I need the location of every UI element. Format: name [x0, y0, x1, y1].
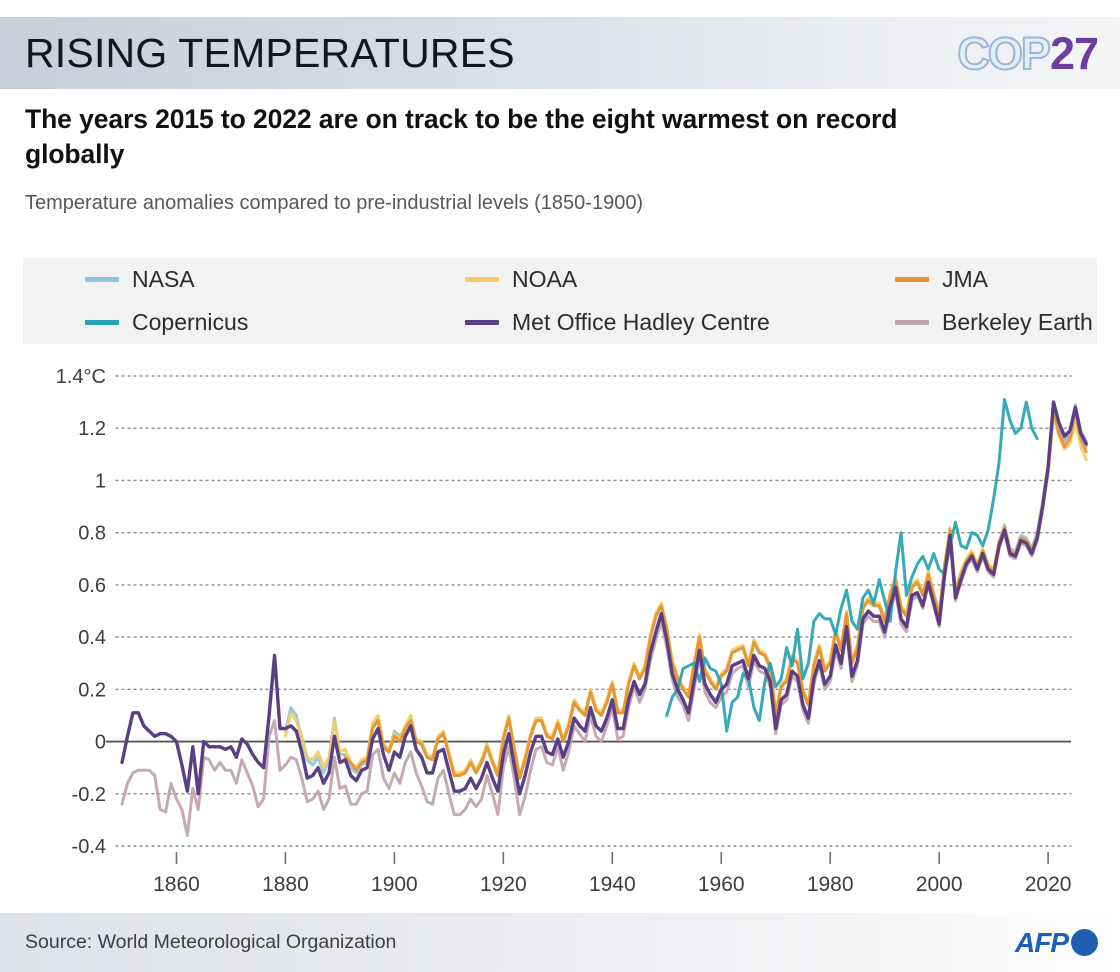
y-axis-tick-label: -0.2: [72, 784, 106, 806]
legend-swatch-icon: [465, 277, 499, 282]
y-axis-tick-label: 0.6: [78, 575, 106, 597]
afp-wordmark: AFP: [1015, 927, 1068, 959]
y-axis-tick-label: 0.2: [78, 679, 106, 701]
x-axis-tick-label: 1920: [480, 873, 527, 896]
legend-label: Berkeley Earth: [942, 309, 1093, 336]
legend-label: Copernicus: [132, 309, 248, 336]
cop27-logo: COP27: [957, 31, 1120, 76]
x-axis-labels: 186018801900192019401960198020002020: [153, 873, 1071, 896]
header-band: RISING TEMPERATURES COP27: [0, 17, 1120, 89]
x-axis-ticks: [176, 852, 1048, 864]
legend-swatch-icon: [85, 320, 119, 325]
legend-label: JMA: [942, 266, 988, 293]
temperature-anomaly-chart: 1.4°C1.210.80.60.40.20-0.2-0.4 186018801…: [0, 352, 1120, 898]
y-axis-labels: 1.4°C1.210.80.60.40.20-0.2-0.4: [56, 366, 106, 858]
series-line: [285, 402, 1086, 778]
cop-logo-word: COP: [957, 31, 1049, 76]
series-line: [285, 415, 1086, 775]
y-axis-tick-label: 1: [95, 470, 106, 492]
legend-label: Met Office Hadley Centre: [512, 309, 770, 336]
cop-logo-number: 27: [1050, 31, 1098, 76]
x-axis-tick-label: 1940: [589, 873, 636, 896]
x-axis-tick-label: 1980: [807, 873, 854, 896]
legend-label: NASA: [132, 266, 195, 293]
legend-item-copernicus[interactable]: Copernicus: [85, 309, 465, 336]
x-axis-tick-label: 1880: [262, 873, 309, 896]
legend-item-met-office-hadley-centre[interactable]: Met Office Hadley Centre: [465, 309, 895, 336]
legend-item-berkeley-earth[interactable]: Berkeley Earth: [895, 309, 1120, 336]
x-axis-tick-label: 1960: [698, 873, 745, 896]
legend-item-noaa[interactable]: NOAA: [465, 266, 895, 293]
source-credit: Source: World Meteorological Organizatio…: [0, 931, 396, 954]
legend-swatch-icon: [465, 320, 499, 325]
y-axis-tick-label: 0.8: [78, 523, 106, 545]
legend-swatch-icon: [895, 320, 929, 325]
afp-logo: AFP: [1015, 927, 1120, 959]
y-axis-tick-label: 0: [95, 732, 106, 754]
legend-swatch-icon: [895, 277, 929, 282]
kicker-text: Temperature anomalies compared to pre-in…: [25, 190, 1025, 216]
legend-swatch-icon: [85, 277, 119, 282]
legend-item-nasa[interactable]: NASA: [85, 266, 465, 293]
x-axis-tick-label: 1860: [153, 873, 200, 896]
x-axis-tick-label: 2000: [916, 873, 963, 896]
filled-circle-icon: [1071, 929, 1098, 956]
x-axis-tick-label: 1900: [371, 873, 418, 896]
y-axis-tick-label: -0.4: [72, 836, 106, 858]
legend-label: NOAA: [512, 266, 577, 293]
chart-svg: 1.4°C1.210.80.60.40.20-0.2-0.4 186018801…: [0, 352, 1120, 898]
y-axis-tick-label: 1.4°C: [56, 366, 106, 388]
series-line: [345, 410, 1086, 778]
page-title: RISING TEMPERATURES: [0, 33, 515, 74]
y-axis-tick-label: 0.4: [78, 627, 106, 649]
legend-item-jma[interactable]: JMA: [895, 266, 1120, 293]
footer-band: Source: World Meteorological Organizatio…: [0, 913, 1120, 972]
legend: NASA NOAA JMA Copernicus Met Office Hadl…: [23, 258, 1097, 344]
x-axis-tick-label: 2020: [1025, 873, 1072, 896]
infographic-root: RISING TEMPERATURES COP27 The years 2015…: [0, 0, 1120, 972]
y-axis-tick-label: 1.2: [78, 418, 106, 440]
chart-gridlines: [116, 376, 1071, 846]
subtitle: The years 2015 to 2022 are on track to b…: [25, 102, 965, 172]
series-line: [122, 405, 1086, 836]
chart-series-group: [122, 400, 1086, 836]
